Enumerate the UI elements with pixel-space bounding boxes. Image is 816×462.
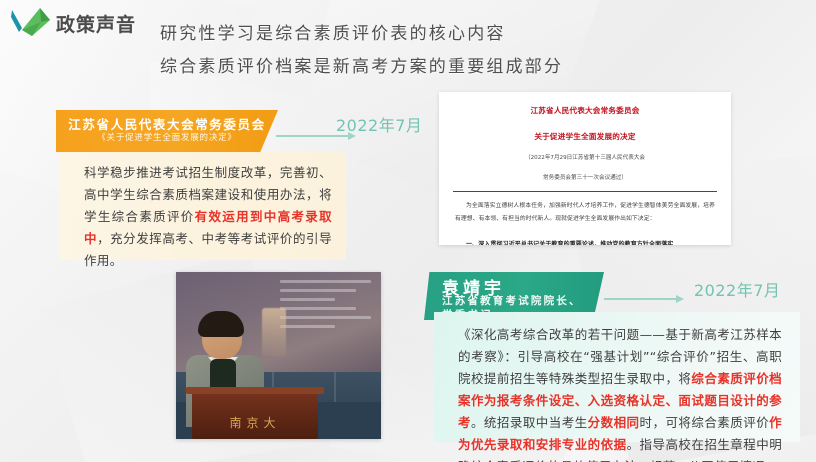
source-banner-legislature: 江苏省人民代表大会常务委员会 《关于促进学生全面发展的决定》 (56, 110, 278, 152)
document-title-line-2: 关于促进学生全面发展的决定 (439, 130, 731, 144)
quote-panel-top: 科学稳步推进考试招生制度改革，完善初、高中学生综合素质档案建设和使用办法，将学生… (60, 152, 346, 260)
brand-logo-text: 政策声音 (56, 10, 136, 37)
document-title-line-1: 江苏省人民代表大会常务委员会 (439, 104, 731, 118)
document-meta-line-2: 常务委员会第三十一次会议通过） (439, 172, 731, 184)
plain-text: 。统招录取中当考生 (471, 415, 588, 430)
banner-title: 江苏省人民代表大会常务委员会 (68, 117, 265, 132)
slide-root: 政策声音 研究性学习是综合素质评价表的核心内容 综合素质评价档案是新高考方案的重… (0, 0, 816, 462)
headline-line-2: 综合素质评价档案是新高考方案的重要组成部分 (160, 51, 780, 84)
date-label-bottom: 2022年7月 (694, 277, 780, 301)
podium-glyphs: 南京大 (192, 414, 318, 431)
document-section-heading: 一、深入贯彻习近平总书记关于教育的重要论述，推动党的教育方针全面落实 (455, 239, 715, 245)
plain-text: ，充分发挥高考、中考等考试评价的引导作用。 (84, 231, 332, 268)
quote-text-bottom: 《深化高考综合改革的若干问题——基于新高考江苏样本的考察》：引导高校在“强基计划… (434, 312, 800, 462)
speaker-photo: 南京大 (176, 272, 381, 439)
document-divider (453, 191, 717, 192)
date-label-top: 2022年7月 (336, 112, 422, 136)
plain-text: 时，可将综合素质评价 (640, 415, 770, 430)
document-image-decision: 江苏省人民代表大会常务委员会 关于促进学生全面发展的决定 （2022年7月29日… (439, 92, 731, 245)
document-meta-line-1: （2022年7月29日江苏省第十三届人民代表大会 (439, 152, 731, 164)
green-book-check-logo-icon (10, 6, 52, 40)
highlighted-text: 分数相同 (588, 415, 640, 430)
headline-line-1: 研究性学习是综合素质评价表的核心内容 (160, 18, 780, 51)
brand-logo: 政策声音 (10, 6, 136, 40)
document-paragraph: 为全面落实立德树人根本任务，加强新时代人才培养工作，促进学生德智体美劳全面发展，… (455, 200, 715, 225)
arrow-icon (604, 294, 690, 303)
banner-subtitle: 《关于促进学生全面发展的决定》 (97, 132, 237, 145)
podium: 南京大 (192, 387, 318, 439)
quote-panel-bottom: 《深化高考综合改革的若干问题——基于新高考江苏样本的考察》：引导高校在“强基计划… (434, 312, 800, 442)
headline-group: 研究性学习是综合素质评价表的核心内容 综合素质评价档案是新高考方案的重要组成部分 (160, 18, 780, 84)
quote-text-top: 科学稳步推进考试招生制度改革，完善初、高中学生综合素质档案建设和使用办法，将学生… (60, 152, 346, 272)
